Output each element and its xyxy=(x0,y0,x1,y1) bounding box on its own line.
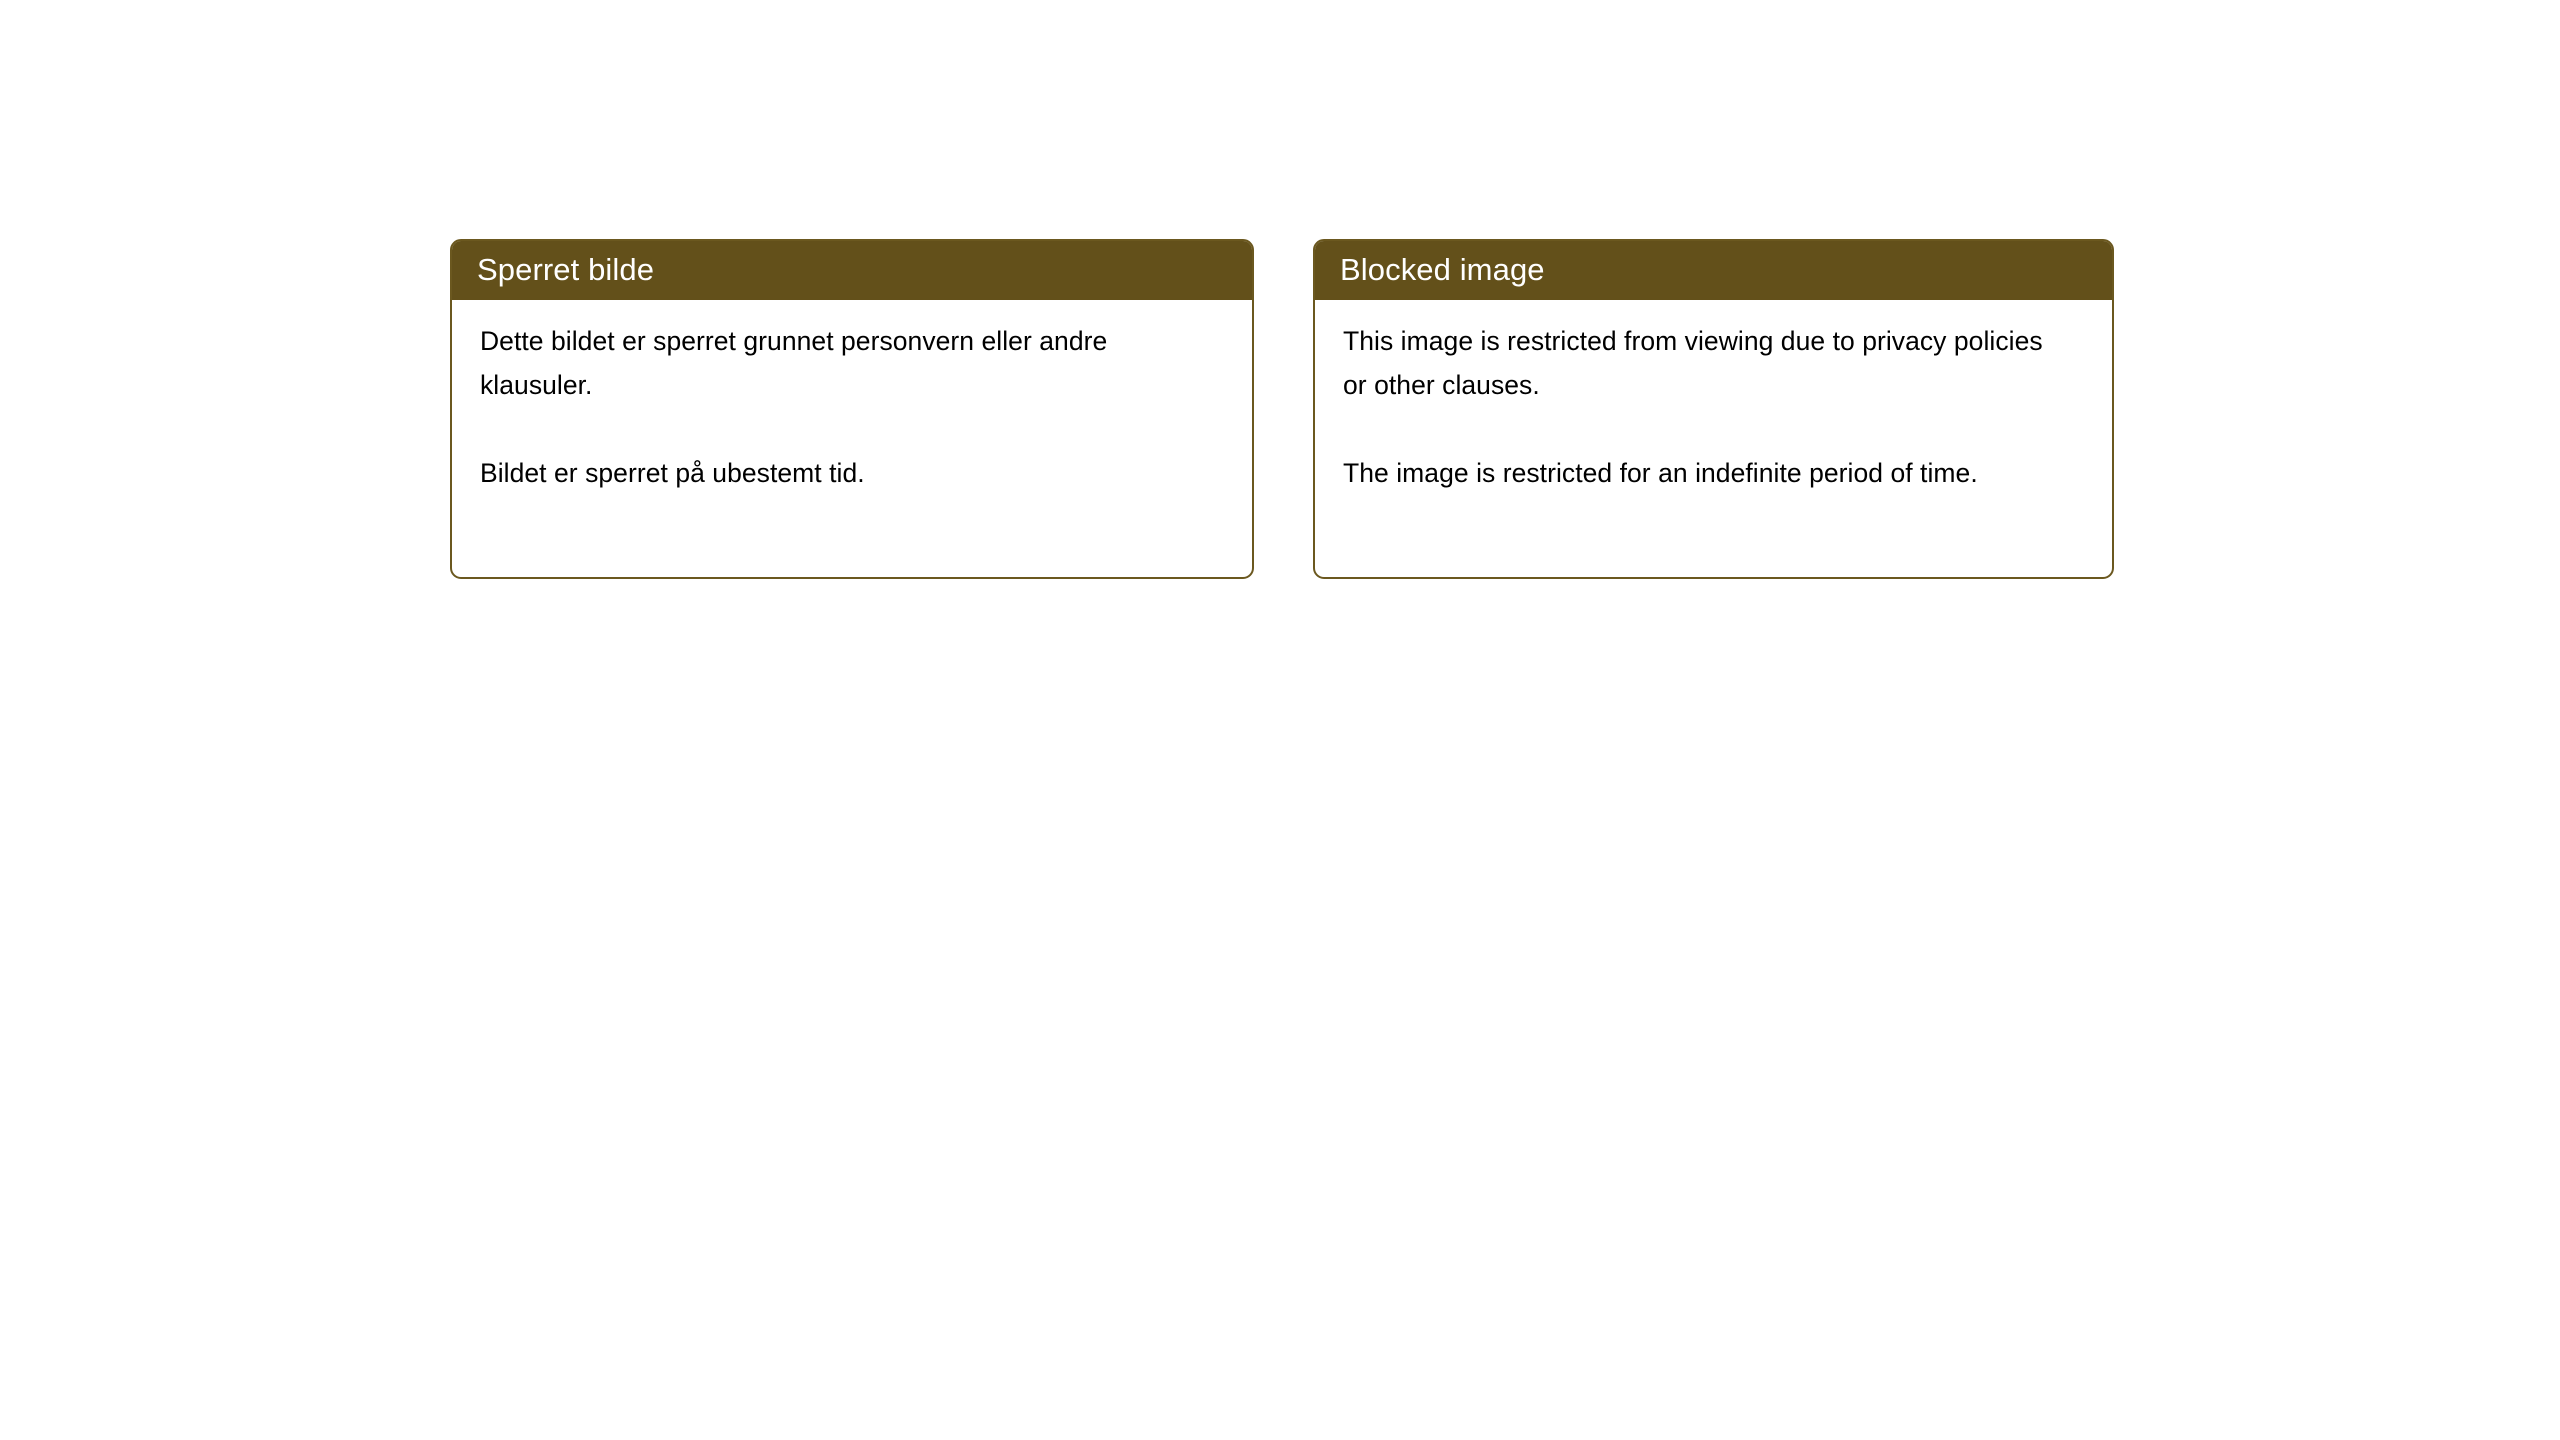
card-paragraph-duration-norwegian: Bildet er sperret på ubestemt tid. xyxy=(480,451,1180,495)
blocked-image-card-norwegian: Sperret bilde Dette bildet er sperret gr… xyxy=(450,239,1254,579)
card-paragraph-reason-norwegian: Dette bildet er sperret grunnet personve… xyxy=(480,319,1180,407)
card-body-norwegian: Dette bildet er sperret grunnet personve… xyxy=(452,300,1252,495)
card-title-english: Blocked image xyxy=(1340,252,1545,288)
card-paragraph-duration-english: The image is restricted for an indefinit… xyxy=(1343,451,2043,495)
card-header-english: Blocked image xyxy=(1313,239,2114,300)
card-title-norwegian: Sperret bilde xyxy=(477,252,654,288)
blocked-image-card-english: Blocked image This image is restricted f… xyxy=(1313,239,2114,579)
card-body-english: This image is restricted from viewing du… xyxy=(1315,300,2112,495)
card-paragraph-reason-english: This image is restricted from viewing du… xyxy=(1343,319,2043,407)
page-root: Sperret bilde Dette bildet er sperret gr… xyxy=(0,0,2560,1440)
card-header-norwegian: Sperret bilde xyxy=(450,239,1254,300)
